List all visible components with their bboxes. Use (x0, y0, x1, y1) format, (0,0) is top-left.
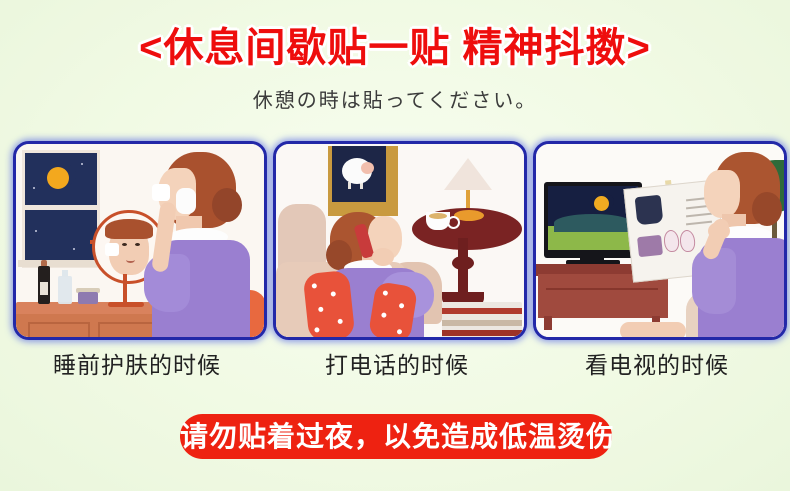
crescent-moon-icon (47, 167, 69, 189)
woman-hair-bun (212, 188, 242, 222)
dresser-drawer (28, 322, 90, 337)
magazine-bag-photo (637, 235, 663, 257)
cotton-pad-icon (152, 184, 170, 201)
bottle-label (40, 282, 48, 295)
lotion-bottle-icon (58, 276, 72, 304)
warning-banner: 请勿贴着过夜，以免造成低温烫伤 (180, 414, 612, 459)
woman-hair-bun (752, 192, 782, 226)
woman-hand (176, 188, 196, 214)
tv-scene-hill (554, 214, 632, 232)
crescent-moon-icon (594, 196, 609, 211)
cabinet-leg (544, 316, 552, 330)
cushion-dot (312, 283, 317, 288)
dresser-drawer (98, 322, 160, 337)
cushion-dot (397, 329, 403, 335)
table-lamp-icon (444, 158, 492, 190)
illustration-panel-group (13, 141, 785, 339)
cushion-icon (368, 281, 418, 337)
magazine-item (442, 330, 522, 336)
phone-call-scene (276, 144, 524, 337)
window-pane-top (25, 153, 97, 205)
star-icon (73, 248, 75, 250)
illustration-panel-watching-tv (533, 141, 787, 340)
magazine-item (442, 308, 522, 314)
woman-hand (372, 248, 394, 266)
mirror-reflection-eye (135, 243, 140, 246)
page-subtitle: 休憩の時は貼ってください。 (0, 88, 790, 114)
illustration-panel-bedtime-skincare (13, 141, 267, 340)
caption-bedtime-skincare: 睡前护肤的时候 (13, 348, 261, 382)
table-knob (452, 256, 474, 270)
caption-group: 睡前护肤的时候 打电话的时候 看电视的时候 (13, 348, 785, 384)
star-icon (33, 187, 35, 189)
cushion-dot (314, 327, 319, 332)
night-window-icon (22, 150, 100, 268)
mirror-reflection-eye (122, 243, 127, 246)
cushion-dot (383, 290, 389, 296)
sheep-head (361, 162, 374, 174)
mirror-reflection-mouth (126, 257, 135, 263)
woman-face (704, 170, 740, 218)
woman-legs (620, 322, 686, 337)
window-sill (18, 260, 100, 267)
woman-hand (708, 222, 730, 240)
bedtime-skincare-scene (16, 144, 264, 337)
cushion-dot (318, 307, 323, 312)
cabinet-seam (546, 288, 658, 290)
caption-phone-call: 打电话的时候 (273, 348, 521, 382)
cushion-dot (331, 291, 336, 296)
mirror-reflection-cotton-pad (105, 243, 119, 256)
illustration-panel-phone-call (273, 141, 527, 340)
cushion-dot (381, 312, 387, 318)
page-title: <休息间歇贴一贴 精神抖擞> (0, 24, 790, 72)
magazine-item (442, 320, 522, 326)
window-pane-bottom (25, 210, 97, 262)
cream-jar-icon (78, 292, 98, 304)
promotional-banner-page: <休息间歇贴一贴 精神抖擞> 休憩の時は貼ってください。 (0, 0, 790, 491)
cushion-dot (337, 319, 342, 324)
magazine-dress-photo (635, 195, 664, 226)
mirror-reflection-hair (105, 219, 153, 239)
star-icon (81, 163, 83, 165)
cushion-dot (399, 303, 405, 309)
cushion-icon (303, 270, 356, 337)
watching-tv-scene (536, 144, 784, 337)
tea-liquid (429, 213, 447, 219)
caption-watching-tv: 看电视的时候 (533, 348, 781, 382)
mirror-base (108, 302, 144, 307)
mirror-stem (123, 274, 127, 304)
teacup-handle (447, 216, 460, 229)
star-icon (35, 230, 37, 232)
